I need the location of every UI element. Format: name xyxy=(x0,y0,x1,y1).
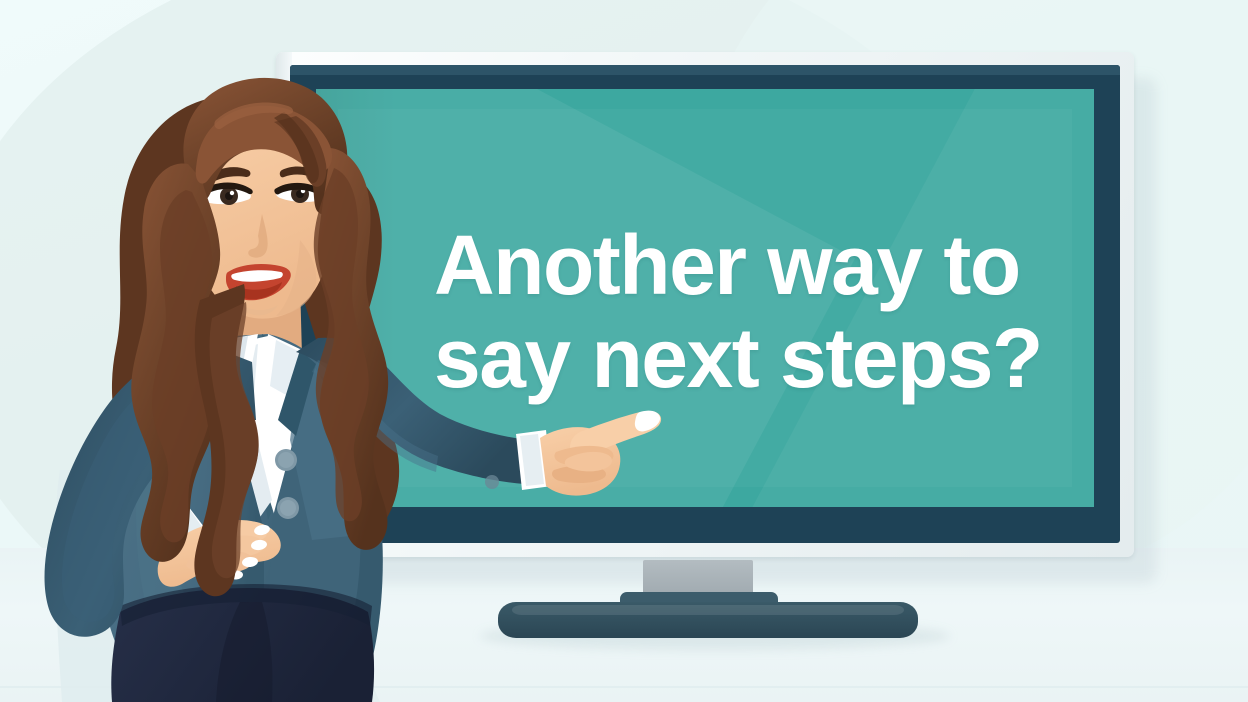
trousers xyxy=(111,584,374,702)
illustration-scene: Another way to say next steps? xyxy=(0,0,1248,702)
presenter-figure xyxy=(0,0,1248,702)
